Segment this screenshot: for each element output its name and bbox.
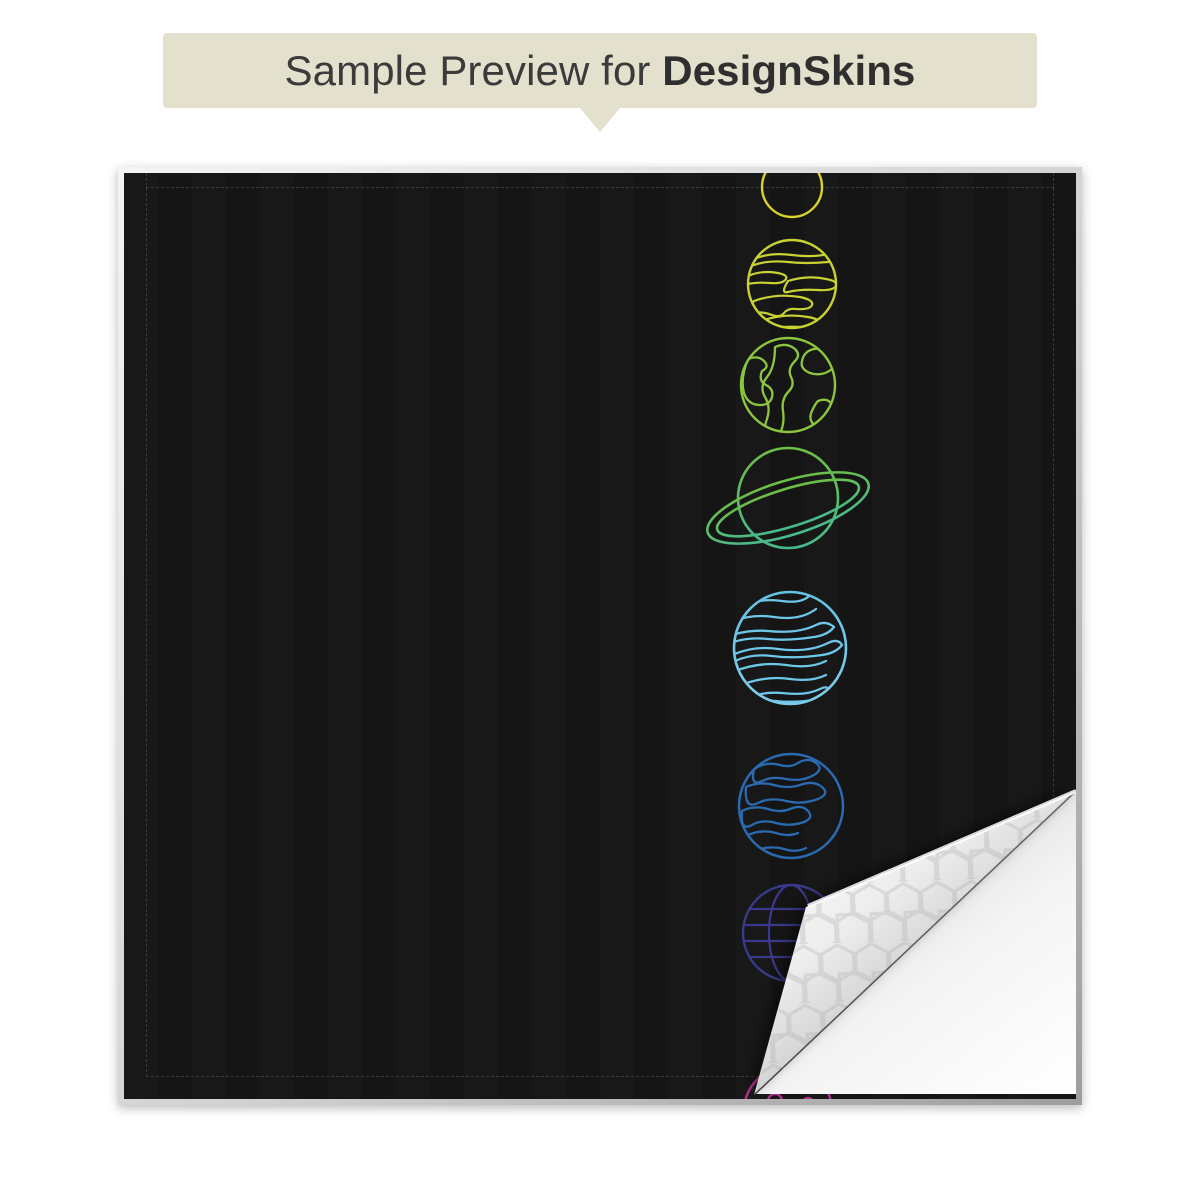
planet-pluto (744, 1067, 832, 1099)
banner-body: Sample Preview for DesignSkins (163, 33, 1037, 108)
planet-jupiter (722, 592, 846, 707)
planet-venus (745, 240, 846, 329)
cut-line-guide-top (146, 187, 1054, 188)
peel-highlight (808, 791, 1076, 906)
banner-title: Sample Preview for DesignSkins (285, 47, 916, 95)
planet-illustration-group (124, 173, 1076, 1099)
planet-mercury (762, 173, 822, 217)
panel-surface-texture (124, 173, 1076, 1099)
skin-artwork-canvas[interactable] (124, 173, 1076, 1099)
banner-tail-triangle (579, 107, 621, 132)
planet-neptune (739, 754, 843, 858)
banner-title-brand: DesignSkins (662, 47, 915, 94)
banner-title-plain: Sample Preview for (285, 47, 663, 94)
planet-saturn (700, 448, 876, 558)
cut-line-guide (146, 173, 1054, 1077)
planet-earth (741, 338, 837, 441)
peel-backing (754, 791, 1076, 1095)
peel-underside (756, 791, 1076, 1094)
planet-uranus (743, 885, 839, 981)
peeling-corner (746, 769, 1076, 1099)
product-panel-frame (118, 167, 1082, 1105)
preview-banner: Sample Preview for DesignSkins (163, 33, 1037, 129)
